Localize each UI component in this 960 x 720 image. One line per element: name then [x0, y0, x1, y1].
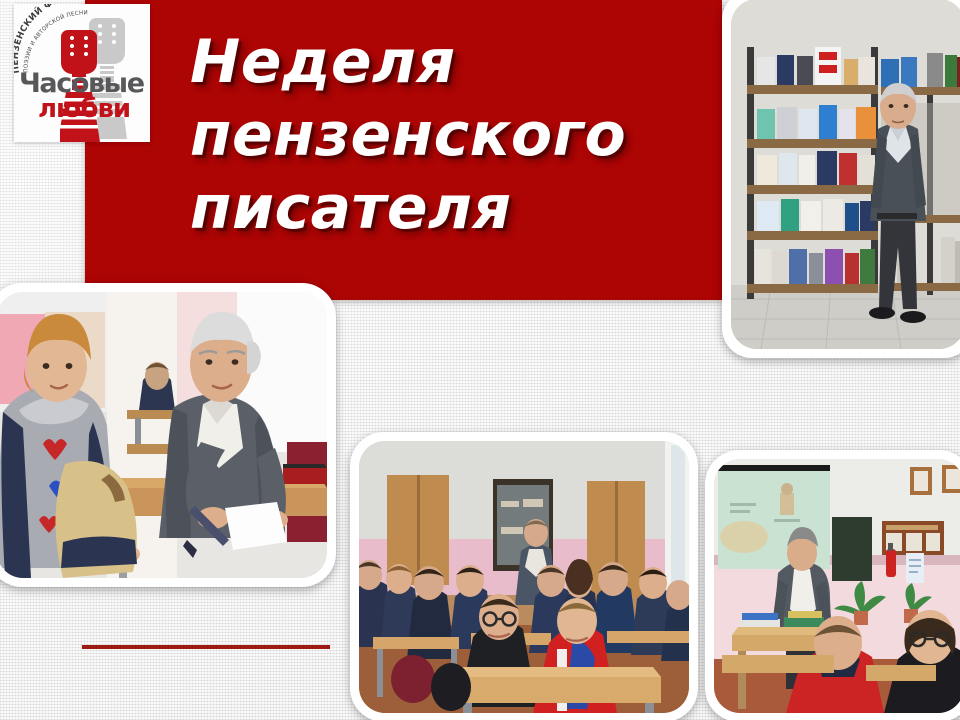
- logo-word-top: Часовые: [19, 70, 144, 97]
- photo-book-signing-image: [0, 292, 327, 578]
- photo-library-display[interactable]: [722, 0, 960, 358]
- photo-classroom-audience-image: [359, 441, 689, 713]
- festival-logo: ПЕНЗЕНСКИЙ ФЕСТИВАЛЬ ПОЭЗИИ И АВТОРСКОЙ …: [14, 4, 150, 142]
- photo-library-display-image: [731, 0, 960, 349]
- photo-classroom-audience[interactable]: [350, 432, 698, 720]
- photo-presentation-talk[interactable]: [705, 450, 960, 720]
- photo-book-signing[interactable]: [0, 283, 336, 587]
- logo-word-bottom: любви: [38, 96, 130, 122]
- page-title: Неделя пензенского писателя: [190, 26, 710, 246]
- slide-canvas: Неделя пензенского писателя: [0, 0, 960, 720]
- accent-rule: [82, 645, 330, 649]
- photo-presentation-talk-image: [714, 459, 960, 713]
